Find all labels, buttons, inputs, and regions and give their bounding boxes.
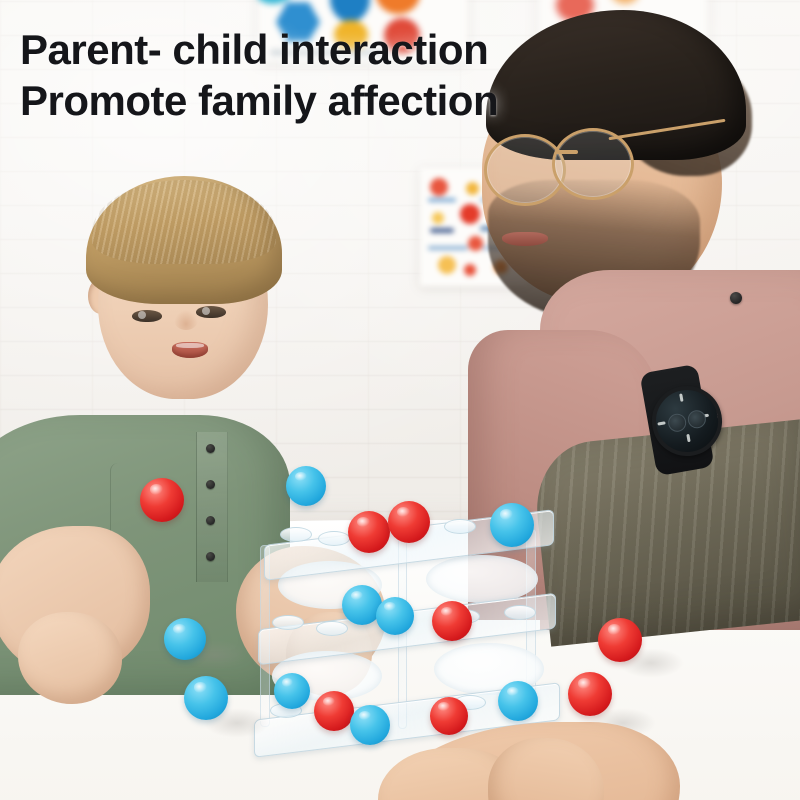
toy-ball-blue[interactable] bbox=[376, 597, 414, 635]
shirt-button bbox=[206, 516, 215, 525]
overshirt-button bbox=[730, 292, 742, 304]
shirt-button bbox=[206, 552, 215, 561]
toy-socket[interactable] bbox=[280, 527, 312, 542]
held-ball-blue bbox=[286, 466, 326, 506]
child-hair bbox=[86, 176, 282, 304]
adult-mouth bbox=[502, 232, 548, 246]
child-mouth bbox=[172, 342, 208, 358]
toy-socket[interactable] bbox=[272, 615, 304, 630]
child-nose bbox=[174, 310, 198, 330]
toy-ball-red[interactable] bbox=[314, 691, 354, 731]
toy-ball-blue[interactable] bbox=[274, 673, 310, 709]
shirt-button bbox=[206, 480, 215, 489]
product-lifestyle-image: Parent- child interaction Promote family… bbox=[0, 0, 800, 800]
loose-ball-red[interactable] bbox=[598, 618, 642, 662]
adult-arms bbox=[400, 356, 710, 526]
held-ball-red bbox=[140, 478, 184, 522]
promo-headline: Parent- child interaction Promote family… bbox=[20, 26, 780, 124]
headline-line-2: Promote family affection bbox=[20, 77, 780, 124]
child-eye bbox=[132, 310, 162, 322]
eyeglasses-right-lens bbox=[552, 128, 634, 200]
toy-ball-red[interactable] bbox=[432, 601, 472, 641]
shirt-button bbox=[206, 444, 215, 453]
eyeglasses-bridge bbox=[556, 150, 578, 154]
toy-ball-red[interactable] bbox=[348, 511, 390, 553]
toy-socket[interactable] bbox=[318, 531, 350, 546]
toy-ball-red[interactable] bbox=[430, 697, 468, 735]
toy-cutout bbox=[426, 555, 538, 603]
toy-socket[interactable] bbox=[316, 621, 348, 636]
child-left-hand bbox=[18, 612, 122, 704]
toy-ball-blue[interactable] bbox=[498, 681, 538, 721]
toy-ball-blue[interactable] bbox=[350, 705, 390, 745]
headline-line-1: Parent- child interaction bbox=[20, 26, 780, 73]
loose-ball-blue[interactable] bbox=[184, 676, 228, 720]
loose-ball-blue[interactable] bbox=[164, 618, 206, 660]
loose-ball-red[interactable] bbox=[568, 672, 612, 716]
child-eye bbox=[196, 306, 226, 318]
toy-socket[interactable] bbox=[504, 605, 536, 620]
